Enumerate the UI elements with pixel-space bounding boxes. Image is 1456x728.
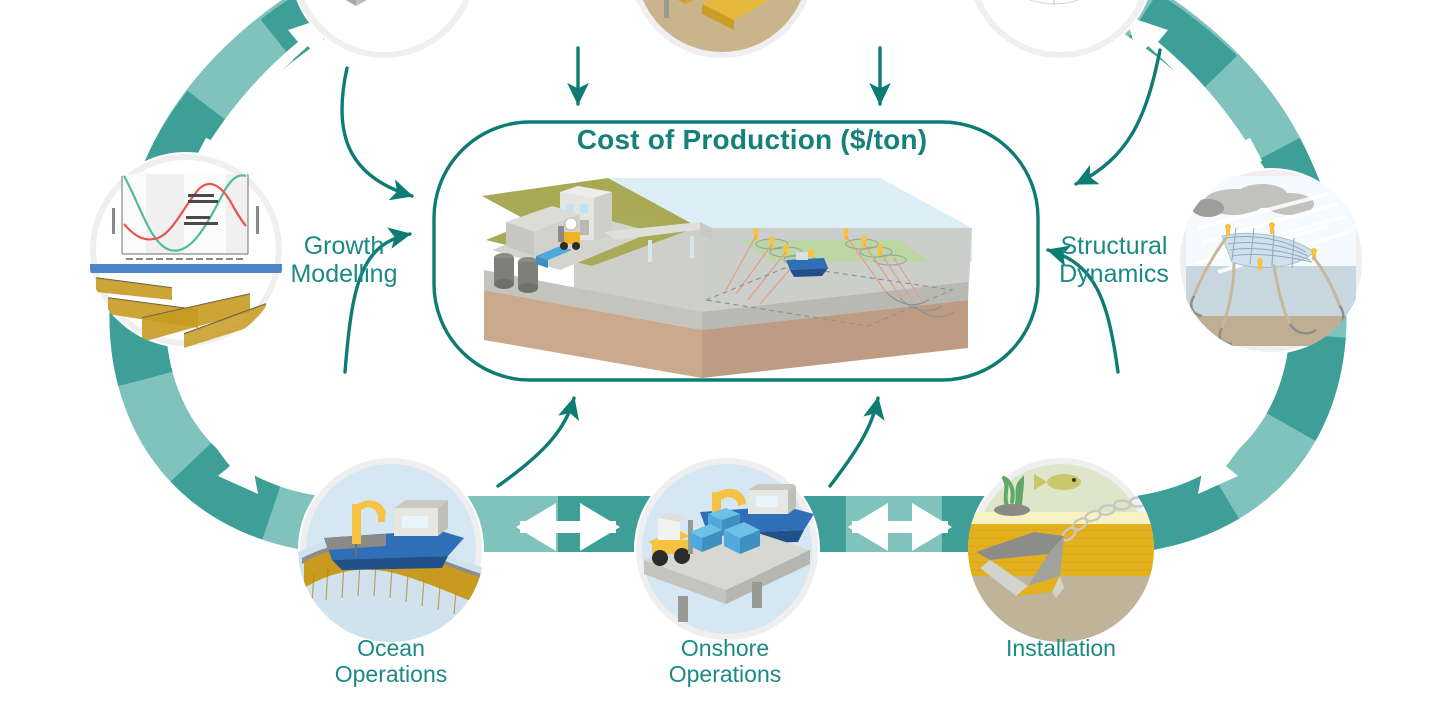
label-structural-dynamics: Structural Dynamics	[1034, 232, 1194, 288]
label-installation: Installation	[970, 636, 1152, 662]
node-growth[interactable]	[88, 152, 284, 348]
structural-dynamics-icon	[1186, 176, 1356, 346]
label-ocean-operations: Ocean Operations	[300, 636, 482, 688]
node-onshore-operations[interactable]	[634, 456, 820, 642]
node-installation[interactable]	[968, 456, 1154, 642]
isometric-farm-block-icon	[482, 178, 972, 378]
diagram-canvas: Cost of Production ($/ton) Growth Modell…	[0, 0, 1456, 728]
label-onshore-operations: Onshore Operations	[634, 636, 816, 688]
center-title: Cost of Production ($/ton)	[432, 124, 1072, 156]
node-ocean-operations[interactable]	[298, 456, 484, 642]
node-structural[interactable]	[1178, 168, 1364, 354]
label-growth-modelling: Growth Modelling	[274, 232, 414, 288]
